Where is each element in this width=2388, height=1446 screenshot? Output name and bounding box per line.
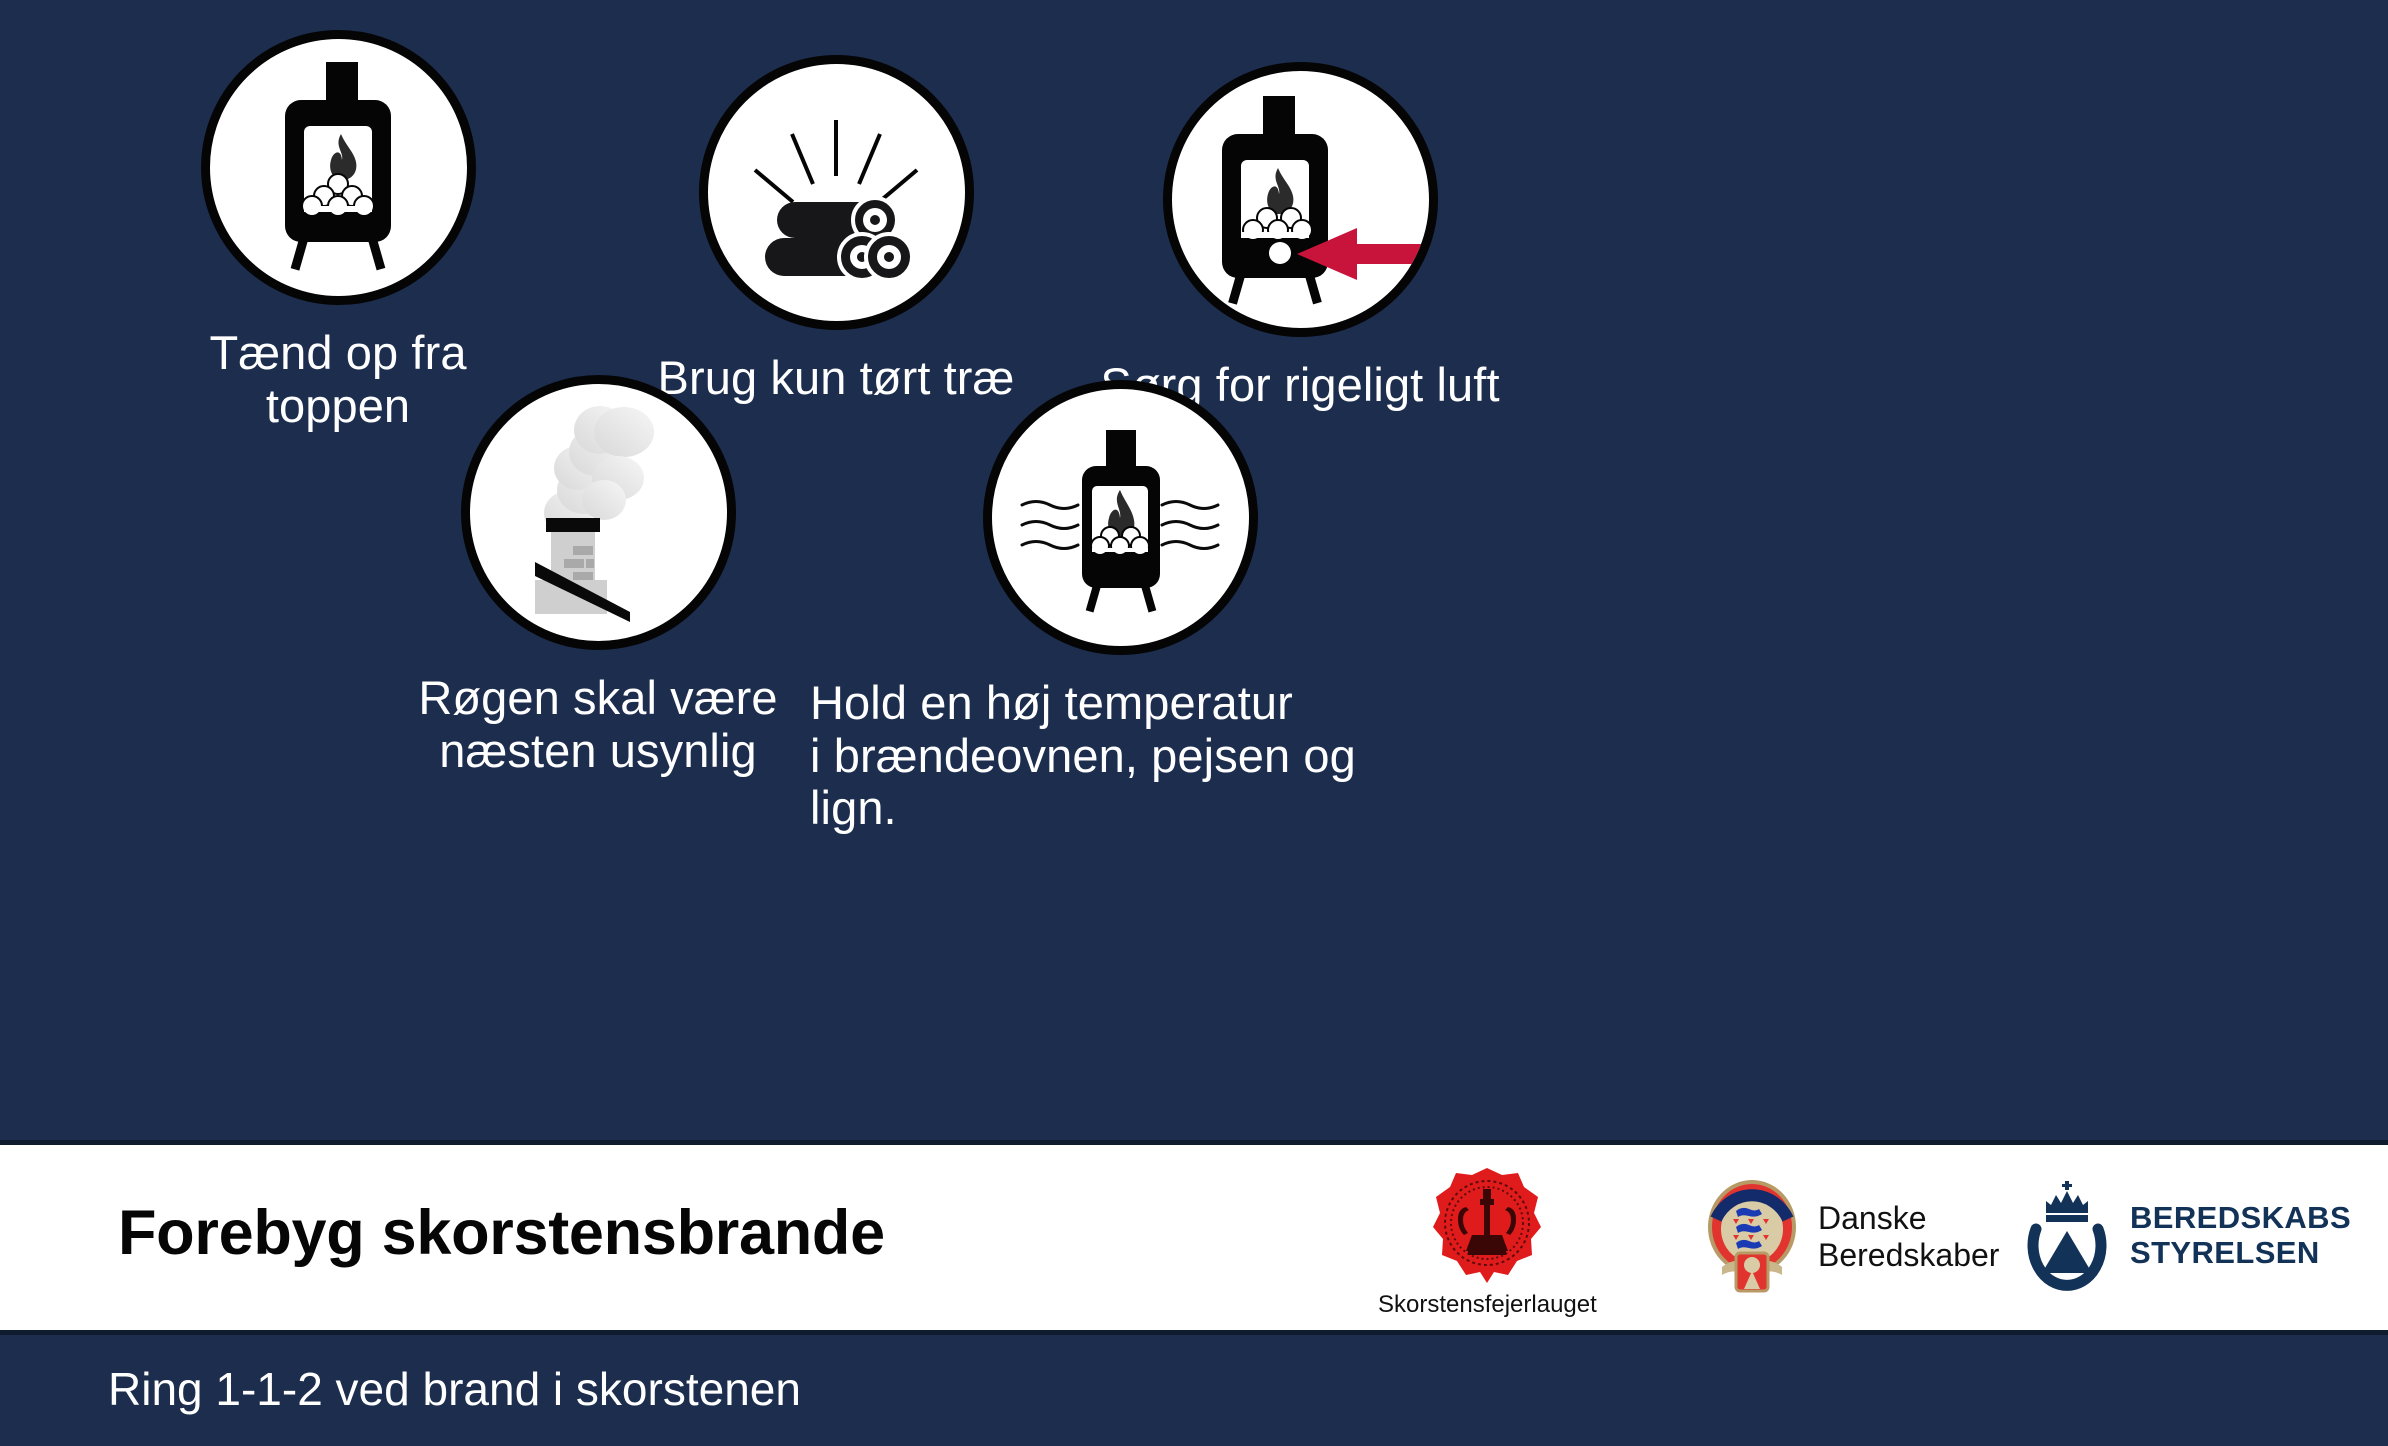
footer-band: Forebyg skorstensbrande bbox=[0, 1140, 2388, 1335]
tip-4-caption: Røgen skal være næsten usynlig bbox=[348, 672, 848, 777]
chimney-smoke-icon bbox=[478, 390, 718, 635]
crown-triangle-icon bbox=[2020, 1177, 2116, 1293]
tip-card-3: Sørg for rigeligt luft bbox=[1100, 62, 1500, 412]
wood-stove-heat-waves-icon bbox=[1000, 410, 1240, 625]
tip-3-icon-circle bbox=[1163, 62, 1438, 337]
skorstensfejerlauget-logo: Skorstensfejerlauget bbox=[1378, 1165, 1597, 1319]
danske-beredskaber-logo: Danske Beredskaber bbox=[1700, 1175, 1999, 1299]
dry-firewood-logs-icon bbox=[729, 90, 944, 295]
tip-5-icon-circle bbox=[983, 380, 1258, 655]
tip-card-1: Tænd op fra toppen bbox=[138, 30, 538, 432]
tip-4-icon-circle bbox=[461, 375, 736, 650]
tip-2-icon-circle bbox=[699, 55, 974, 330]
wax-seal-icon bbox=[1428, 1165, 1546, 1285]
tip-card-2: Brug kun tørt træ bbox=[636, 55, 1036, 405]
wood-stove-fire-icon bbox=[238, 60, 438, 275]
wood-stove-air-intake-arrow-icon bbox=[1163, 92, 1438, 307]
beredskabsstyrelsen-label: BEREDSKABS STYRELSEN bbox=[2130, 1200, 2351, 1271]
skorstensfejerlauget-label: Skorstensfejerlauget bbox=[1378, 1291, 1597, 1319]
poster-root: Tænd op fra toppen bbox=[0, 0, 2388, 1446]
bottom-bar: Ring 1-1-2 ved brand i skorstenen bbox=[0, 1335, 2388, 1446]
emergency-call-text: Ring 1-1-2 ved brand i skorstenen bbox=[108, 1362, 801, 1416]
tip-5-caption: Hold en høj temperatur i brændeovnen, pe… bbox=[810, 677, 1370, 835]
tip-card-4: Røgen skal være næsten usynlig bbox=[348, 375, 848, 777]
footer-title: Forebyg skorstensbrande bbox=[118, 1197, 885, 1269]
tip-1-icon-circle bbox=[201, 30, 476, 305]
danske-beredskaber-label: Danske Beredskaber bbox=[1818, 1200, 1999, 1274]
danske-beredskaber-crest-icon bbox=[1700, 1175, 1804, 1299]
tips-grid: Tænd op fra toppen bbox=[0, 0, 2388, 1140]
beredskabsstyrelsen-logo: BEREDSKABS STYRELSEN bbox=[2020, 1177, 2351, 1293]
tip-card-5: Hold en høj temperatur i brændeovnen, pe… bbox=[870, 380, 1370, 835]
